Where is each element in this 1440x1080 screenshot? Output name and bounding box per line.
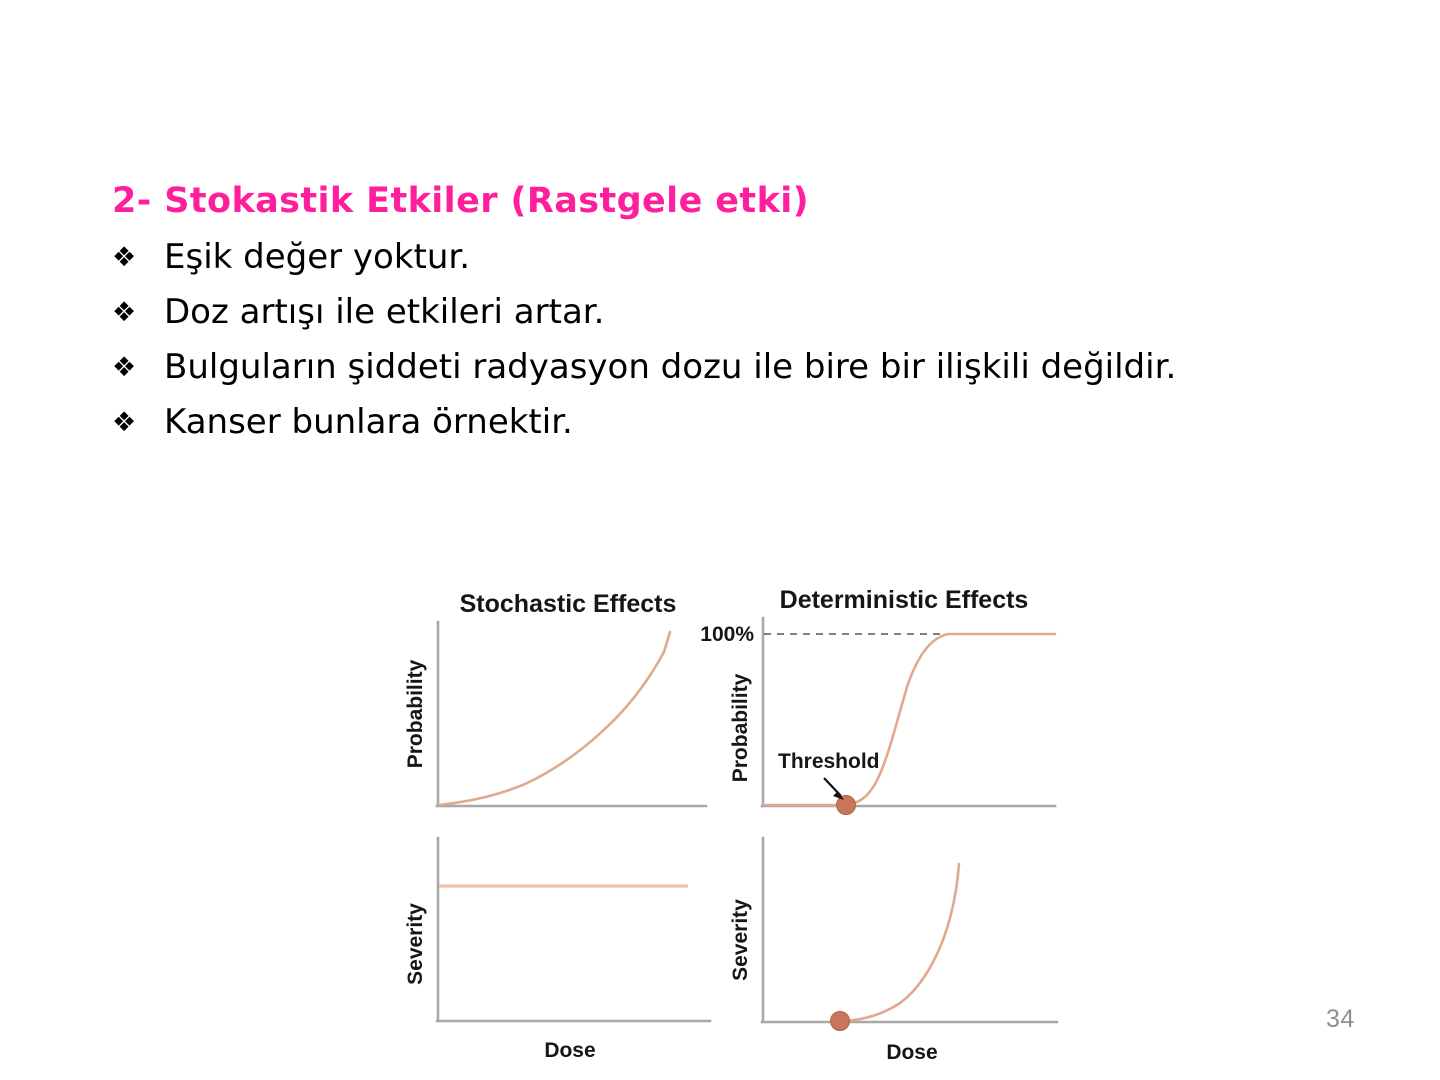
x-axis-label-dose: Dose xyxy=(886,1041,937,1064)
list-item-label: Bulguların şiddeti radyasyon dozu ile bi… xyxy=(164,340,1176,395)
data-curve-deterministic-severity xyxy=(844,864,959,1021)
chart-panel-stochastic-severity: Severity Dose xyxy=(404,838,710,1062)
diamond-bullet-icon: ❖ xyxy=(112,409,164,436)
annotation-label-threshold: Threshold xyxy=(778,750,880,773)
bullet-list: ❖ Eşik değer yoktur. ❖ Doz artışı ile et… xyxy=(112,230,1342,450)
y-axis-label-probability: Probability xyxy=(729,673,752,782)
list-item-label: Eşik değer yoktur. xyxy=(164,230,470,285)
chart-panel-stochastic-probability: Stochastic Effects Probability xyxy=(404,590,706,806)
dose-response-figure: Stochastic Effects Probability Determini… xyxy=(392,556,1082,1066)
figure-svg: Stochastic Effects Probability Determini… xyxy=(392,556,1082,1066)
threshold-marker-dot xyxy=(831,1012,850,1031)
diamond-bullet-icon: ❖ xyxy=(112,354,164,381)
threshold-marker-dot xyxy=(837,796,856,815)
list-item: ❖ Eşik değer yoktur. xyxy=(112,230,1342,285)
list-item: ❖ Doz artışı ile etkileri artar. xyxy=(112,285,1342,340)
y-axis-label-probability: Probability xyxy=(404,659,427,768)
list-item: ❖ Bulguların şiddeti radyasyon dozu ile … xyxy=(112,340,1342,395)
y-tick-label-100-percent: 100% xyxy=(700,623,754,646)
panel-title-stochastic: Stochastic Effects xyxy=(460,590,677,618)
data-curve-deterministic xyxy=(764,634,1055,805)
chart-panel-deterministic-probability: Deterministic Effects 100% Probability T… xyxy=(700,586,1055,815)
slide-canvas: 2- Stokastik Etkiler (Rastgele etki) ❖ E… xyxy=(0,0,1440,1080)
list-item: ❖ Kanser bunlara örnektir. xyxy=(112,395,1342,450)
page-number: 34 xyxy=(1326,1005,1355,1034)
data-curve-stochastic xyxy=(439,632,670,805)
chart-panel-deterministic-severity: Severity Dose xyxy=(729,838,1057,1064)
panel-title-deterministic: Deterministic Effects xyxy=(780,586,1029,614)
diamond-bullet-icon: ❖ xyxy=(112,299,164,326)
diamond-bullet-icon: ❖ xyxy=(112,244,164,271)
list-item-label: Kanser bunlara örnektir. xyxy=(164,395,573,450)
slide-text-block: 2- Stokastik Etkiler (Rastgele etki) ❖ E… xyxy=(112,178,1342,451)
x-axis-label-dose: Dose xyxy=(544,1039,595,1062)
y-axis-label-severity: Severity xyxy=(729,899,752,981)
page-title: 2- Stokastik Etkiler (Rastgele etki) xyxy=(112,178,1342,224)
y-axis-label-severity: Severity xyxy=(404,903,427,985)
list-item-label: Doz artışı ile etkileri artar. xyxy=(164,285,604,340)
